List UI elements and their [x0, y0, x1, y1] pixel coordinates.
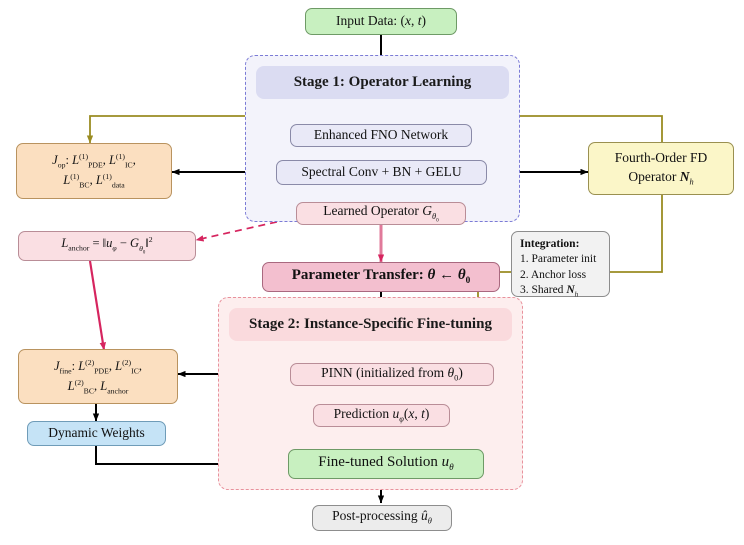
node-fine-tuned-solution[interactable]: Fine-tuned Solution uθ [288, 449, 484, 479]
stage1-title-band: Stage 1: Operator Learning [256, 66, 509, 99]
node-j-fine[interactable]: Jfine: L(2)PDE, L(2)IC, L(2)BC, Lanchor [18, 349, 178, 404]
enhanced-fno-label: Enhanced FNO Network [314, 127, 448, 144]
node-spectral-conv[interactable]: Spectral Conv + BN + GELU [276, 160, 487, 185]
fd-operator-line-1: Fourth-Order FD [615, 148, 708, 168]
integration-item-1: 1. Parameter init [520, 252, 602, 267]
stage2-title-band: Stage 2: Instance-Specific Fine-tuning [229, 308, 512, 341]
node-parameter-transfer[interactable]: Parameter Transfer: θ ← θ0 [262, 262, 500, 292]
stage2-title: Stage 2: Instance-Specific Fine-tuning [249, 316, 492, 333]
diagram-canvas: Input Data: (x, t) Stage 1: Operator Lea… [0, 0, 744, 545]
node-input-data[interactable]: Input Data: (x, t) [305, 8, 457, 35]
anchor-loss-label: Lanchor = ‖uφ − Gθ0‖2 [61, 235, 152, 256]
node-j-op[interactable]: Jop: L(1)PDE, L(1)IC, L(1)BC, L(1)data [16, 143, 172, 199]
node-pinn[interactable]: PINN (initialized from θ0) [290, 363, 494, 386]
edge-anchor-to-jfine [90, 261, 104, 350]
learned-operator-label: Learned Operator Gθ0 [323, 203, 438, 224]
integration-note: Integration: 1. Parameter init 2. Anchor… [511, 231, 610, 297]
node-fd-operator[interactable]: Fourth-Order FD Operator Nh [588, 142, 734, 195]
node-enhanced-fno[interactable]: Enhanced FNO Network [290, 124, 472, 147]
j-fine-line-1: Jfine: L(2)PDE, L(2)IC, [54, 357, 142, 377]
fine-tuned-solution-label: Fine-tuned Solution uθ [318, 453, 453, 475]
j-op-line-1: Jop: L(1)PDE, L(1)IC, [52, 151, 136, 171]
integration-item-3: 3. Shared Nh [520, 283, 602, 300]
fd-operator-line-2: Operator Nh [628, 167, 693, 189]
node-post-processing[interactable]: Post-processing ûθ [312, 505, 452, 531]
node-learned-operator[interactable]: Learned Operator Gθ0 [296, 202, 466, 225]
node-dynamic-weights[interactable]: Dynamic Weights [27, 421, 166, 446]
spectral-conv-label: Spectral Conv + BN + GELU [301, 164, 461, 181]
j-op-line-2: L(1)BC, L(1)data [63, 171, 125, 191]
input-data-label: Input Data: (x, t) [336, 13, 426, 30]
node-anchor-loss[interactable]: Lanchor = ‖uφ − Gθ0‖2 [18, 231, 196, 261]
node-prediction[interactable]: Prediction uφ(x, t) [313, 404, 450, 427]
edge-fd-to-integration-olive [610, 195, 662, 272]
j-fine-line-2: L(2)BC, Lanchor [68, 377, 129, 397]
dynamic-weights-label: Dynamic Weights [48, 425, 145, 442]
stage1-title: Stage 1: Operator Learning [294, 74, 472, 91]
integration-heading: Integration: [520, 237, 602, 252]
parameter-transfer-label: Parameter Transfer: θ ← θ0 [292, 266, 471, 288]
integration-item-2: 2. Anchor loss [520, 268, 602, 283]
prediction-label: Prediction uφ(x, t) [334, 406, 430, 425]
post-processing-label: Post-processing ûθ [332, 508, 432, 527]
pinn-label: PINN (initialized from θ0) [321, 365, 463, 384]
